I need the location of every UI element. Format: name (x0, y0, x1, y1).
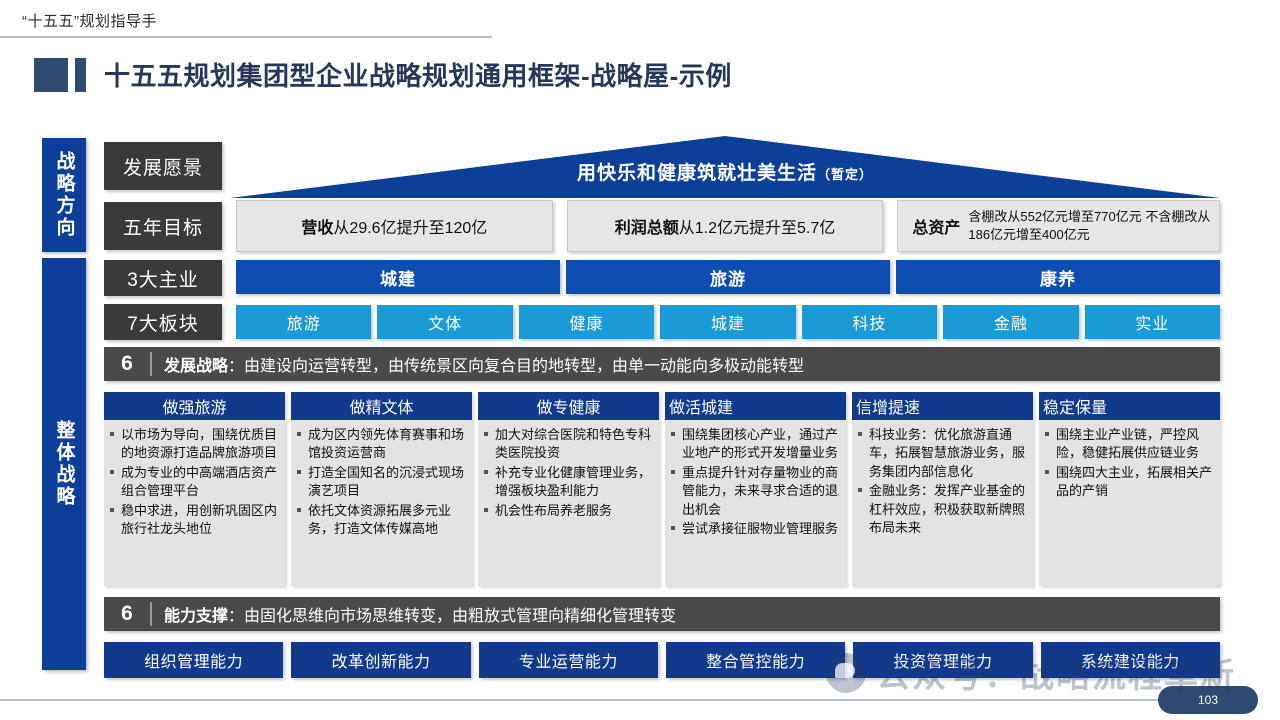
segment-jiankang[interactable]: 健康 (519, 305, 654, 339)
list-item: 尝试承接征服物业管理服务 (671, 520, 838, 538)
strategy-house-roof: 用快乐和健康筑就壮美生活（暂定） (230, 136, 1220, 198)
capability-professional-operation[interactable]: 专业运营能力 (479, 642, 658, 678)
list-item: 依托文体资源拓展多元业务，打造文体传媒高地 (297, 502, 464, 539)
strategy-column-health: 做专健康 加大对综合医院和特色专科类医院投资 补充专业化健康管理业务，增强板块盈… (478, 392, 659, 586)
strategy-column-culture-sports: 做精文体 成为区内领先体育赛事和场馆投资运营商 打造全国知名的沉浸式现场演艺项目… (291, 392, 472, 586)
list-item: 加大对综合医院和特色专科类医院投资 (484, 426, 651, 463)
core-business-lvyou[interactable]: 旅游 (566, 260, 890, 294)
goal-value-profit: 从1.2亿元提升至5.7亿 (679, 214, 836, 238)
slide-canvas: “十五五”规划指导手 十五五规划集团型企业战略规划通用框架-战略屋-示例 战略方… (0, 0, 1280, 720)
row-label-vision: 发展愿景 (104, 142, 222, 190)
vision-statement: 用快乐和健康筑就壮美生活（暂定） (230, 158, 1220, 185)
goal-label-revenue: 营收 (301, 214, 333, 238)
capability-integrated-control[interactable]: 整合管控能力 (666, 642, 845, 678)
development-strategy-colon: ： (228, 352, 244, 376)
list-item: 以市场为导向，围绕优质目的地资源打造品牌旅游项目 (110, 426, 277, 463)
strategy-column-tourism: 做强旅游 以市场为导向，围绕优质目的地资源打造品牌旅游项目 成为专业的中高端酒店… (104, 392, 285, 586)
list-item: 打造全国知名的沉浸式现场演艺项目 (297, 464, 464, 501)
strategy-column-body-urban-construction: 围绕集团核心产业，通过产业地产的形式开发增量业务 重点提升针对存量物业的商管能力… (665, 420, 846, 586)
core-business-row: 城建 旅游 康养 (236, 260, 1220, 294)
strategy-column-header-culture-sports: 做精文体 (291, 392, 472, 420)
strategy-list-culture-sports: 成为区内领先体育赛事和场馆投资运营商 打造全国知名的沉浸式现场演艺项目 依托文体… (297, 426, 464, 539)
list-item: 金融业务：发挥产业基金的杠杆效应，积极获取新牌照布局未来 (858, 482, 1025, 537)
rail-overall-strategy: 整体战略 (42, 258, 86, 670)
footer-divider (0, 699, 1224, 701)
goal-card-total-assets: 总资产含棚改从552亿元增至770亿元 不含棚改从186亿元增至400亿元 (897, 200, 1220, 252)
segment-wenti[interactable]: 文体 (377, 305, 512, 339)
five-year-goal-row: 营收从29.6亿提升至120亿 利润总额从1.2亿元提升至5.7亿 总资产含棚改… (236, 200, 1220, 252)
list-item: 科技业务：优化旅游直通车，拓展智慧旅游业务，服务集团内部信息化 (858, 426, 1025, 481)
list-item: 重点提升针对存量物业的商管能力，未来寻求合适的退出机会 (671, 464, 838, 519)
development-strategy-text: 发展战略：由建设向运营转型，由传统景区向复合目的地转型，由单一动能向多极动能转型 (152, 347, 1220, 381)
strategy-list-health: 加大对综合医院和特色专科类医院投资 补充专业化健康管理业务，增强板块盈利能力 机… (484, 426, 651, 520)
list-item: 围绕四大主业，拓展相关产品的产销 (1045, 464, 1212, 501)
capability-support-banner: 6 能力支撑：由固化思维向市场思维转变，由粗放式管理向精细化管理转变 (104, 597, 1220, 631)
row-label-core-business: 3大主业 (104, 260, 222, 296)
segment-chengjian[interactable]: 城建 (660, 305, 795, 339)
strategy-column-header-urban-construction: 做活城建 (665, 392, 846, 420)
vision-text: 用快乐和健康筑就壮美生活 (577, 163, 817, 184)
title-square-small-icon (75, 58, 86, 92)
row-label-five-year-goal: 五年目标 (104, 202, 222, 250)
strategy-column-header-health: 做专健康 (478, 392, 659, 420)
row-label-segments: 7大板块 (104, 304, 222, 340)
strategy-column-stability: 稳定保量 围绕主业产业链，严控风险，稳健拓展供应链业务 围绕四大主业，拓展相关产… (1039, 392, 1220, 586)
strategy-list-urban-construction: 围绕集团核心产业，通过产业地产的形式开发增量业务 重点提升针对存量物业的商管能力… (671, 426, 838, 539)
list-item: 成为专业的中高端酒店资产组合管理平台 (110, 464, 277, 501)
strategy-column-header-tourism: 做强旅游 (104, 392, 285, 420)
strategy-column-body-stability: 围绕主业产业链，严控风险，稳健拓展供应链业务 围绕四大主业，拓展相关产品的产销 (1039, 420, 1220, 586)
capability-support-number: 6 (104, 597, 150, 631)
goal-value-revenue: 从29.6亿提升至120亿 (333, 214, 487, 238)
strategy-column-body-acceleration: 科技业务：优化旅游直通车，拓展智慧旅游业务，服务集团内部信息化 金融业务：发挥产… (852, 420, 1033, 586)
core-business-chengjian[interactable]: 城建 (236, 260, 560, 294)
capability-reform-innovation[interactable]: 改革创新能力 (291, 642, 470, 678)
strategy-list-stability: 围绕主业产业链，严控风险，稳健拓展供应链业务 围绕四大主业，拓展相关产品的产销 (1045, 426, 1212, 501)
strategy-list-acceleration: 科技业务：优化旅游直通车，拓展智慧旅游业务，服务集团内部信息化 金融业务：发挥产… (858, 426, 1025, 538)
vision-tentative-note: （暂定） (817, 167, 873, 182)
list-item: 围绕集团核心产业，通过产业地产的形式开发增量业务 (671, 426, 838, 463)
development-strategy-banner: 6 发展战略：由建设向运营转型，由传统景区向复合目的地转型，由单一动能向多极动能… (104, 347, 1220, 381)
goal-label-profit: 利润总额 (615, 214, 679, 238)
segment-row: 旅游 文体 健康 城建 科技 金融 实业 (236, 305, 1220, 339)
strategy-column-grid: 做强旅游 以市场为导向，围绕优质目的地资源打造品牌旅游项目 成为专业的中高端酒店… (104, 392, 1220, 586)
segment-jinrong[interactable]: 金融 (943, 305, 1078, 339)
strategy-column-header-acceleration: 信增提速 (852, 392, 1033, 420)
core-business-kangyang[interactable]: 康养 (896, 260, 1220, 294)
segment-lvyou[interactable]: 旅游 (236, 305, 371, 339)
goal-value-total-assets: 含棚改从552亿元增至770亿元 不含棚改从186亿元增至400亿元 (968, 208, 1211, 243)
list-item: 机会性布局养老服务 (484, 502, 651, 520)
development-strategy-number: 6 (104, 347, 150, 381)
list-item: 围绕主业产业链，严控风险，稳健拓展供应链业务 (1045, 426, 1212, 463)
title-square-large-icon (34, 58, 68, 92)
strategy-column-body-culture-sports: 成为区内领先体育赛事和场馆投资运营商 打造全国知名的沉浸式现场演艺项目 依托文体… (291, 420, 472, 586)
rail-strategic-direction: 战略方向 (42, 138, 86, 252)
strategy-column-urban-construction: 做活城建 围绕集团核心产业，通过产业地产的形式开发增量业务 重点提升针对存量物业… (665, 392, 846, 586)
segment-keji[interactable]: 科技 (802, 305, 937, 339)
capability-support-body: 由固化思维向市场思维转变，由粗放式管理向精细化管理转变 (244, 602, 676, 626)
strategy-column-body-tourism: 以市场为导向，围绕优质目的地资源打造品牌旅游项目 成为专业的中高端酒店资产组合管… (104, 420, 285, 586)
goal-label-total-assets: 总资产 (912, 214, 960, 238)
development-strategy-label: 发展战略 (164, 352, 228, 376)
list-item: 稳中求进，用创新巩固区内旅行社龙头地位 (110, 502, 277, 539)
capability-support-colon: ： (228, 602, 244, 626)
page-title-row: 十五五规划集团型企业战略规划通用框架-战略屋-示例 (34, 56, 732, 93)
capability-support-text: 能力支撑：由固化思维向市场思维转变，由粗放式管理向精细化管理转变 (152, 597, 1220, 631)
strategy-column-header-stability: 稳定保量 (1039, 392, 1220, 420)
development-strategy-body: 由建设向运营转型，由传统景区向复合目的地转型，由单一动能向多极动能转型 (244, 352, 804, 376)
list-item: 补充专业化健康管理业务，增强板块盈利能力 (484, 464, 651, 501)
capability-support-label: 能力支撑 (164, 602, 228, 626)
capability-organization-management[interactable]: 组织管理能力 (104, 642, 283, 678)
goal-card-revenue: 营收从29.6亿提升至120亿 (236, 200, 553, 252)
list-item: 成为区内领先体育赛事和场馆投资运营商 (297, 426, 464, 463)
strategy-list-tourism: 以市场为导向，围绕优质目的地资源打造品牌旅游项目 成为专业的中高端酒店资产组合管… (110, 426, 277, 539)
strategy-column-acceleration: 信增提速 科技业务：优化旅游直通车，拓展智慧旅游业务，服务集团内部信息化 金融业… (852, 392, 1033, 586)
document-kicker: “十五五”规划指导手 (22, 10, 157, 31)
capability-row: 组织管理能力 改革创新能力 专业运营能力 整合管控能力 投资管理能力 系统建设能… (104, 642, 1220, 678)
segment-shiye[interactable]: 实业 (1085, 305, 1220, 339)
header-divider (0, 36, 492, 38)
page-number-badge: 103 (1158, 686, 1258, 714)
capability-investment-management[interactable]: 投资管理能力 (853, 642, 1032, 678)
strategy-column-body-health: 加大对综合医院和特色专科类医院投资 补充专业化健康管理业务，增强板块盈利能力 机… (478, 420, 659, 586)
page-title: 十五五规划集团型企业战略规划通用框架-战略屋-示例 (104, 56, 732, 93)
capability-system-construction[interactable]: 系统建设能力 (1041, 642, 1220, 678)
goal-card-profit: 利润总额从1.2亿元提升至5.7亿 (567, 200, 884, 252)
